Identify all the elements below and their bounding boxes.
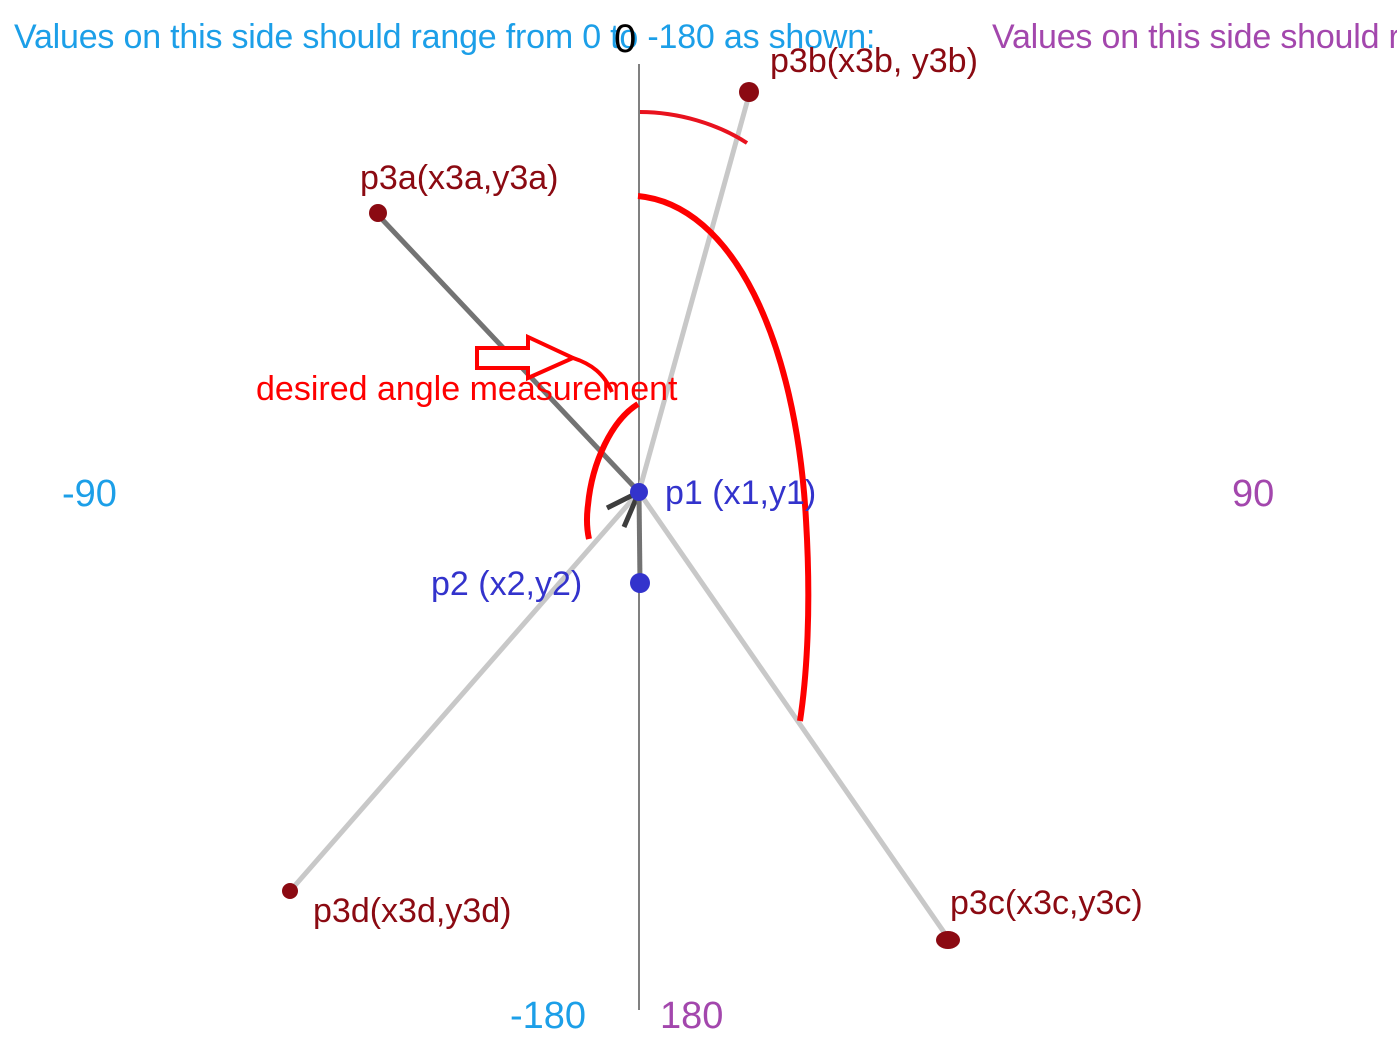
- ray-p1-p3c: [639, 492, 948, 938]
- marker-p3d: [282, 883, 298, 899]
- annotation-desired-angle: desired angle measurement: [256, 368, 556, 412]
- ray-p1-p3b: [639, 95, 749, 492]
- marker-p3a: [369, 204, 387, 222]
- ray-p1-p2: [639, 492, 640, 583]
- point-label-p1: p1 (x1,y1): [665, 472, 816, 516]
- axis-label-positive-180: 180: [660, 992, 723, 1041]
- marker-p1: [630, 483, 648, 501]
- note-right-range: Values on this side should range from 0 …: [992, 16, 1392, 60]
- marker-p3c: [936, 931, 960, 949]
- axis-label-positive-90: 90: [1232, 470, 1274, 519]
- note-left-range: Values on this side should range from 0 …: [14, 16, 434, 60]
- marker-p2: [630, 573, 650, 593]
- point-label-p3b: p3b(x3b, y3b): [770, 40, 970, 84]
- point-label-p3a: p3a(x3a,y3a): [360, 157, 558, 201]
- diagram-canvas: Values on this side should range from 0 …: [0, 0, 1397, 1057]
- axis-label-negative-180: -180: [510, 992, 586, 1041]
- point-label-p3d: p3d(x3d,y3d): [313, 890, 511, 934]
- marker-p3b: [739, 82, 759, 102]
- ray-p1-p3d: [291, 492, 639, 890]
- point-label-p2: p2 (x2,y2): [431, 563, 582, 607]
- arc-zero-to-p3b: [640, 112, 747, 143]
- angle-diagram-svg: [0, 0, 1397, 1057]
- axis-label-zero: 0: [614, 14, 636, 65]
- axis-label-negative-90: -90: [62, 470, 117, 519]
- point-label-p3c: p3c(x3c,y3c): [950, 882, 1143, 926]
- arc-zero-to-p3c: [638, 196, 808, 721]
